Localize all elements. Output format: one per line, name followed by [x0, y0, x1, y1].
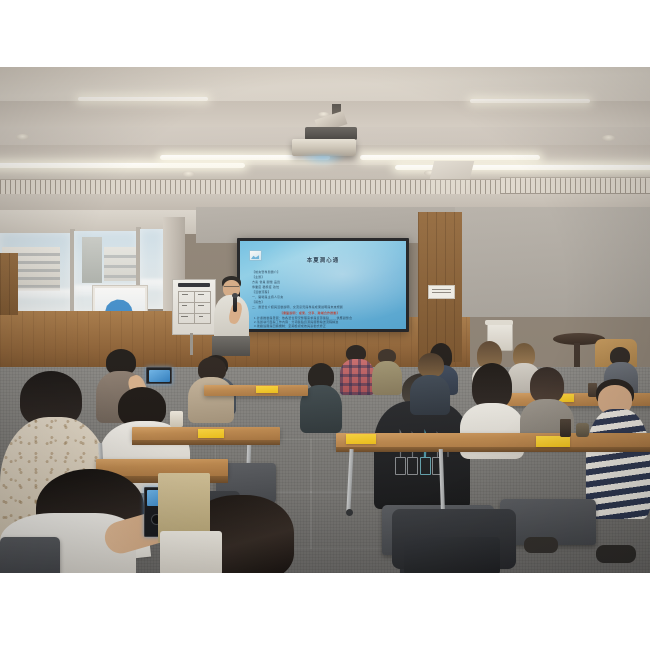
flipchart-cell-6 — [194, 313, 211, 324]
yellow-handout-mid-1 — [346, 434, 376, 444]
round-table-post — [574, 343, 580, 369]
downlight-4 — [602, 135, 615, 141]
led-strip-6 — [470, 99, 590, 103]
door-notice-sign — [428, 285, 455, 299]
wall-right — [455, 207, 650, 317]
slide-line-6: 【報告】 — [252, 301, 265, 304]
drink-cup-mid-1 — [560, 419, 571, 437]
air-diffuser-strip-right — [500, 177, 650, 194]
downlight-1 — [182, 171, 195, 177]
desk-caster-1 — [346, 509, 353, 516]
yellow-handout-left-far — [256, 386, 278, 393]
desk-left-edge — [132, 440, 280, 445]
slide-highlight-line: 【重點說明：成果、分享、跨域合作推動】 — [280, 312, 340, 315]
microphone — [233, 296, 237, 312]
desk-middle-edge — [336, 447, 650, 452]
flipchart-board — [172, 279, 216, 335]
attendee-torso — [340, 359, 374, 395]
trash-bin-lid — [485, 320, 513, 325]
drink-cup-left — [170, 411, 183, 427]
projection-screen-surface[interactable]: 本夏潤心通 【前言暨專題簡介】 【主題】 方案 會員 關懷 品質 專業度 積極度… — [240, 241, 406, 329]
yellow-handout-left — [198, 429, 224, 438]
white-tote-bag — [160, 531, 222, 573]
phone-screen-1 — [149, 370, 170, 382]
attendee-pink-floral-top — [340, 345, 374, 393]
drink-cup-mid-2 — [576, 423, 589, 437]
slide-line-5: 一、開場與主持人引言 — [252, 296, 283, 299]
photo-frame: 本夏潤心通 【前言暨專題簡介】 【主題】 方案 會員 關懷 品質 專業度 積極度… — [0, 0, 650, 650]
slide-footer-2: 3.後續追蹤與回饋機制：定期檢視成效與滾動式修正 — [254, 325, 326, 328]
front-wall-wood-left — [0, 311, 185, 369]
microphone-head-icon — [232, 293, 238, 298]
window-tower — [82, 237, 102, 283]
flipchart-clip — [178, 283, 210, 287]
presenter-glasses-icon — [224, 286, 239, 290]
chair-foreground-left — [0, 537, 60, 573]
slide-line-3: 專業度 積極度 熱忱 — [252, 286, 279, 289]
led-strip-5 — [78, 97, 208, 101]
slide-line-2: 方案 會員 關懷 品質 — [252, 281, 280, 284]
window-building-2 — [104, 247, 136, 281]
classroom-photograph: 本夏潤心通 【前言暨專題簡介】 【主題】 方案 會員 關懷 品質 專業度 積極度… — [0, 67, 650, 573]
projector-light-beam — [300, 155, 346, 166]
presenter-lower-body — [212, 336, 250, 356]
flipchart-leg — [190, 333, 193, 355]
shoe-center — [524, 537, 558, 553]
projector — [292, 139, 356, 156]
attendee-phone-photographer-3 — [410, 353, 450, 411]
slide-line-7: 二、貴單位介紹與活動說明、交流意見與專案成果說明與未來規劃 — [252, 306, 343, 309]
slide-line-4: 【活動流程】 — [252, 291, 271, 294]
slide-corner-logo-icon — [249, 250, 262, 261]
slide-line-1: 【主題】 — [252, 276, 265, 279]
wall-wood-trim-left — [0, 253, 18, 315]
backpack-3 — [404, 537, 500, 573]
phone-1[interactable] — [146, 367, 172, 384]
wave-logo-icon — [105, 296, 135, 312]
led-strip-3 — [360, 155, 540, 160]
shoe-right — [596, 545, 636, 563]
desk-middle — [336, 433, 650, 448]
attendee-teal-top — [300, 363, 342, 429]
led-strip-1 — [0, 163, 245, 168]
presenter — [212, 276, 252, 354]
slide-line-0: 【前言暨專題簡介】 — [252, 271, 280, 274]
projection-screen-frame: 本夏潤心通 【前言暨專題簡介】 【主題】 方案 會員 關懷 品質 專業度 積極度… — [237, 238, 409, 332]
downlight-3 — [16, 134, 29, 140]
slide-title: 本夏潤心通 — [307, 256, 339, 264]
yellow-handout-mid-2 — [536, 436, 570, 447]
flipchart-cell-5 — [178, 313, 195, 324]
